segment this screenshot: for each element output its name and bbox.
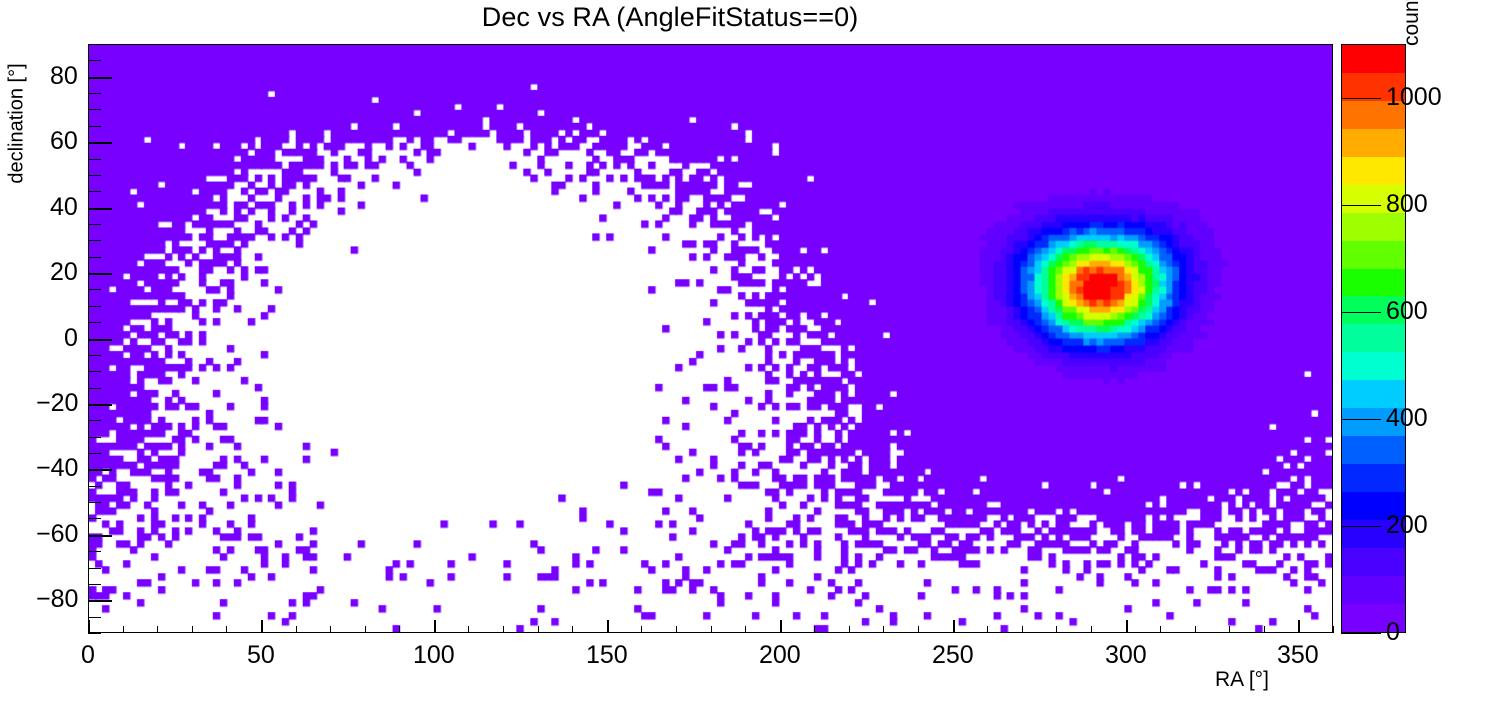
x-tick-minor xyxy=(503,626,504,633)
x-tick-major xyxy=(1126,620,1128,633)
y-tick-minor xyxy=(88,109,101,110)
colorbar-band xyxy=(1342,576,1405,604)
y-tick-label: −60 xyxy=(36,520,78,549)
y-tick-minor xyxy=(88,355,101,356)
x-tick-minor xyxy=(1264,626,1265,633)
y-tick-minor xyxy=(88,486,101,487)
colorbar-band xyxy=(1342,464,1405,492)
x-tick-label: 300 xyxy=(1105,641,1147,670)
y-tick-minor xyxy=(88,420,101,421)
x-tick-minor xyxy=(814,626,815,633)
y-tick-minor xyxy=(88,617,101,618)
colorbar-band xyxy=(1342,269,1405,297)
x-tick-minor xyxy=(641,626,642,633)
y-tick-minor xyxy=(88,257,101,258)
y-tick-minor xyxy=(88,191,101,192)
x-tick-minor xyxy=(157,626,158,633)
y-tick-minor xyxy=(88,551,101,552)
colorbar-band xyxy=(1342,241,1405,269)
x-tick-minor xyxy=(296,626,297,633)
colorbar-title: count xyxy=(1400,0,1424,46)
x-tick-major xyxy=(607,620,609,633)
y-tick-minor xyxy=(88,568,101,569)
y-tick-minor xyxy=(88,224,101,225)
y-tick-minor xyxy=(88,371,101,372)
x-tick-minor xyxy=(1160,626,1161,633)
x-tick-label: 50 xyxy=(247,641,275,670)
colorbar-tick-label: 400 xyxy=(1386,404,1428,433)
colorbar-band xyxy=(1342,129,1405,157)
colorbar xyxy=(1341,44,1406,633)
y-tick-label: −80 xyxy=(36,585,78,614)
colorbar-tick-label: 800 xyxy=(1386,190,1428,219)
x-tick-minor xyxy=(1229,626,1230,633)
y-tick-major xyxy=(88,339,112,341)
x-tick-minor xyxy=(987,626,988,633)
y-tick-minor xyxy=(88,289,101,290)
x-tick-minor xyxy=(676,626,677,633)
y-tick-minor xyxy=(88,518,101,519)
x-tick-minor xyxy=(538,626,539,633)
colorbar-band xyxy=(1342,352,1405,380)
x-tick-minor xyxy=(849,626,850,633)
y-tick-minor xyxy=(88,159,101,160)
x-tick-minor xyxy=(330,626,331,633)
x-tick-minor xyxy=(1333,626,1334,633)
y-tick-label: −20 xyxy=(36,389,78,418)
y-tick-label: 20 xyxy=(50,258,78,287)
y-tick-label: 80 xyxy=(50,62,78,91)
x-tick-major xyxy=(434,620,436,633)
y-tick-minor xyxy=(88,584,101,585)
y-tick-minor xyxy=(88,437,101,438)
x-tick-minor xyxy=(226,626,227,633)
y-tick-label: 40 xyxy=(50,193,78,222)
x-tick-minor xyxy=(711,626,712,633)
y-tick-minor xyxy=(88,322,101,323)
y-tick-major xyxy=(88,600,112,602)
colorbar-tick xyxy=(1341,312,1381,313)
x-tick-minor xyxy=(918,626,919,633)
y-tick-minor xyxy=(88,126,101,127)
colorbar-band xyxy=(1342,324,1405,352)
plot-frame xyxy=(88,44,1333,633)
x-tick-label: 150 xyxy=(586,641,628,670)
x-tick-minor xyxy=(1056,626,1057,633)
x-tick-minor xyxy=(572,626,573,633)
colorbar-band xyxy=(1342,548,1405,576)
x-tick-minor xyxy=(123,626,124,633)
colorbar-tick xyxy=(1341,419,1381,420)
y-tick-major xyxy=(88,535,112,537)
colorbar-band xyxy=(1342,157,1405,185)
x-tick-label: 100 xyxy=(413,641,455,670)
x-tick-label: 200 xyxy=(759,641,801,670)
y-tick-label: −40 xyxy=(36,454,78,483)
x-tick-label: 0 xyxy=(81,641,95,670)
colorbar-tick-label: 1000 xyxy=(1386,83,1442,112)
y-tick-minor xyxy=(88,633,101,634)
y-axis-title: declination [°] xyxy=(6,29,29,219)
y-tick-minor xyxy=(88,388,101,389)
colorbar-tick xyxy=(1341,98,1381,99)
y-tick-minor xyxy=(88,60,101,61)
x-tick-minor xyxy=(192,626,193,633)
y-tick-label: 0 xyxy=(64,324,78,353)
colorbar-tick-label: 600 xyxy=(1386,297,1428,326)
y-tick-minor xyxy=(88,453,101,454)
colorbar-band xyxy=(1342,45,1405,73)
x-tick-label: 350 xyxy=(1277,641,1319,670)
y-tick-label: 60 xyxy=(50,127,78,156)
x-tick-minor xyxy=(468,626,469,633)
y-tick-major xyxy=(88,469,112,471)
colorbar-tick xyxy=(1341,205,1381,206)
x-tick-major xyxy=(261,620,263,633)
colorbar-tick xyxy=(1341,633,1381,634)
y-tick-minor xyxy=(88,93,101,94)
x-tick-minor xyxy=(745,626,746,633)
y-tick-minor xyxy=(88,502,101,503)
x-tick-label: 250 xyxy=(932,641,974,670)
x-tick-minor xyxy=(1022,626,1023,633)
heatmap-image xyxy=(89,45,1332,632)
x-tick-minor xyxy=(1091,626,1092,633)
colorbar-tick-label: 200 xyxy=(1386,511,1428,540)
y-tick-major xyxy=(88,404,112,406)
colorbar-tick xyxy=(1341,526,1381,527)
x-tick-major xyxy=(953,620,955,633)
x-tick-minor xyxy=(1195,626,1196,633)
x-tick-minor xyxy=(365,626,366,633)
page-title: Dec vs RA (AngleFitStatus==0) xyxy=(0,2,1340,33)
colorbar-tick-label: 0 xyxy=(1386,618,1400,647)
x-tick-minor xyxy=(399,626,400,633)
x-tick-major xyxy=(780,620,782,633)
x-tick-major xyxy=(1298,620,1300,633)
colorbar-band xyxy=(1342,436,1405,464)
y-tick-major xyxy=(88,142,112,144)
y-tick-minor xyxy=(88,175,101,176)
y-tick-major xyxy=(88,273,112,275)
y-tick-minor xyxy=(88,44,101,45)
x-axis-title: RA [°] xyxy=(1215,668,1269,692)
y-tick-minor xyxy=(88,240,101,241)
y-tick-major xyxy=(88,77,112,79)
x-tick-minor xyxy=(883,626,884,633)
y-tick-minor xyxy=(88,306,101,307)
plot-canvas: Dec vs RA (AngleFitStatus==0) declinatio… xyxy=(0,0,1496,722)
x-tick-major xyxy=(88,620,90,633)
y-tick-major xyxy=(88,208,112,210)
